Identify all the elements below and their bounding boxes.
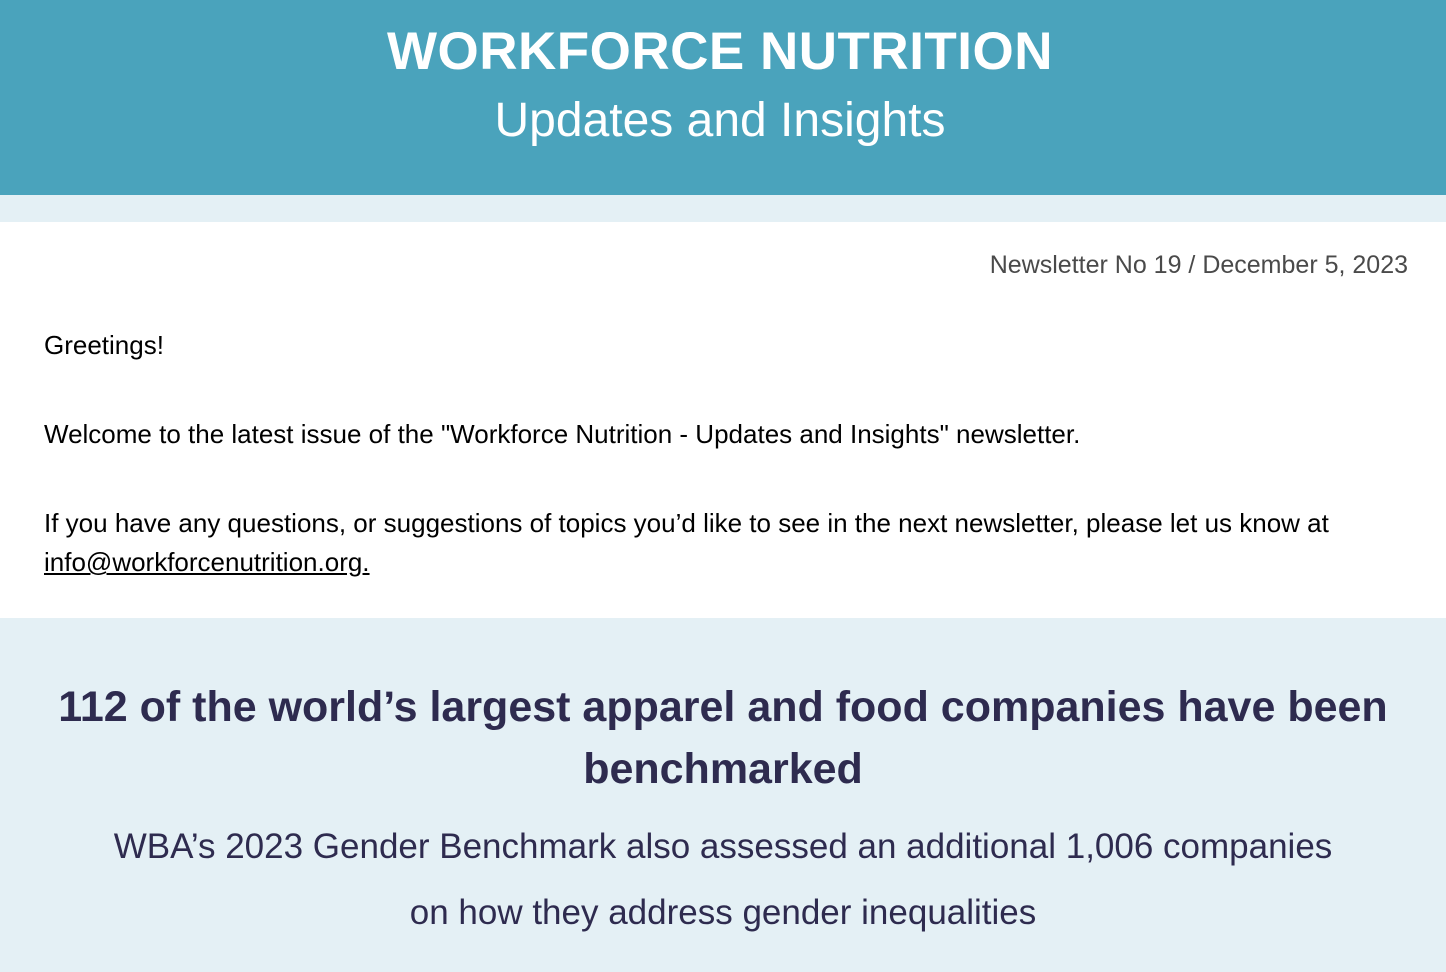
accent-band	[0, 195, 1446, 222]
feature-headline: 112 of the world’s largest apparel and f…	[52, 676, 1394, 800]
contact-email-link[interactable]: info@workforcenutrition.org.	[44, 547, 370, 577]
masthead: WORKFORCE NUTRITION Updates and Insights	[0, 0, 1446, 195]
issue-number-and-date: Newsletter No 19 / December 5, 2023	[990, 250, 1408, 280]
newsletter-subtitle: Updates and Insights	[0, 82, 1446, 150]
greeting-text: Greetings!	[44, 326, 1402, 365]
intro-section: Newsletter No 19 / December 5, 2023 Gree…	[0, 222, 1446, 618]
intro-body: Greetings! Welcome to the latest issue o…	[44, 326, 1402, 582]
feature-section: 112 of the world’s largest apparel and f…	[0, 618, 1446, 972]
contact-paragraph-text: If you have any questions, or suggestion…	[44, 508, 1329, 538]
newsletter-page: WORKFORCE NUTRITION Updates and Insights…	[0, 0, 1446, 972]
feature-subtext: WBA’s 2023 Gender Benchmark also assesse…	[52, 814, 1394, 946]
contact-paragraph: If you have any questions, or suggestion…	[44, 504, 1402, 582]
newsletter-title: WORKFORCE NUTRITION	[0, 22, 1446, 82]
welcome-paragraph: Welcome to the latest issue of the "Work…	[44, 415, 1402, 454]
